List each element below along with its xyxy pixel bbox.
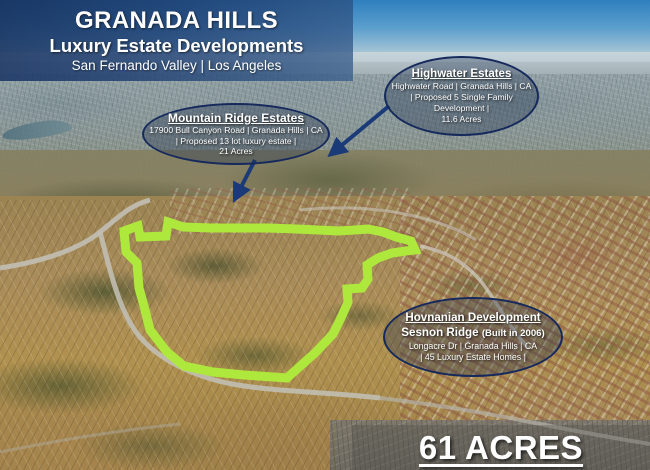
- callout-highwater-estates[interactable]: Highwater Estates Highwater Road | Grana…: [384, 56, 539, 136]
- callout-hovnanian-development[interactable]: Hovnanian Development Sesnon Ridge (Buil…: [383, 297, 563, 377]
- page-subtitle: Luxury Estate Developments: [0, 34, 353, 57]
- aerial-map-infographic: GRANADA HILLS Luxury Estate Developments…: [0, 0, 650, 470]
- callout-line-1: Longacre Dr | Granada Hills | CA: [409, 341, 537, 352]
- callout-heading-line-2: Sesnon Ridge (Built in 2006): [401, 325, 544, 341]
- acreage-label: 61 ACRES: [419, 429, 583, 467]
- callout-heading-line-1: Hovnanian Development: [405, 311, 540, 325]
- parcel-boundary-outline[interactable]: [124, 222, 415, 378]
- callout-mountain-ridge-estates[interactable]: Mountain Ridge Estates 17900 Bull Canyon…: [142, 103, 330, 165]
- callout-heading: Mountain Ridge Estates: [168, 111, 304, 125]
- callout-project-name: Sesnon Ridge: [401, 326, 482, 339]
- title-banner: GRANADA HILLS Luxury Estate Developments…: [0, 0, 353, 81]
- callout-built-year: (Built in 2006): [482, 328, 545, 339]
- highwater-pointer-arrow: [336, 106, 389, 150]
- page-title: GRANADA HILLS: [0, 7, 353, 34]
- callout-line-2: | Proposed 5 Single Family: [410, 92, 513, 103]
- callout-heading: Highwater Estates: [412, 67, 512, 81]
- acreage-banner: 61 ACRES: [352, 425, 650, 470]
- callout-line-3: 21 Acres: [219, 146, 252, 157]
- callout-line-2: | Proposed 13 lot luxury estate |: [176, 136, 297, 147]
- callout-line-2: | 45 Luxury Estate Homes |: [420, 352, 526, 363]
- callout-line-1: Highwater Road | Granada Hills | CA: [392, 81, 532, 92]
- page-location-line: San Fernando Valley | Los Angeles: [0, 57, 353, 75]
- callout-line-1: 17900 Bull Canyon Road | Granada Hills |…: [149, 125, 323, 136]
- callout-line-3: Development |: [434, 103, 489, 114]
- callout-line-4: 11.6 Acres: [442, 114, 482, 125]
